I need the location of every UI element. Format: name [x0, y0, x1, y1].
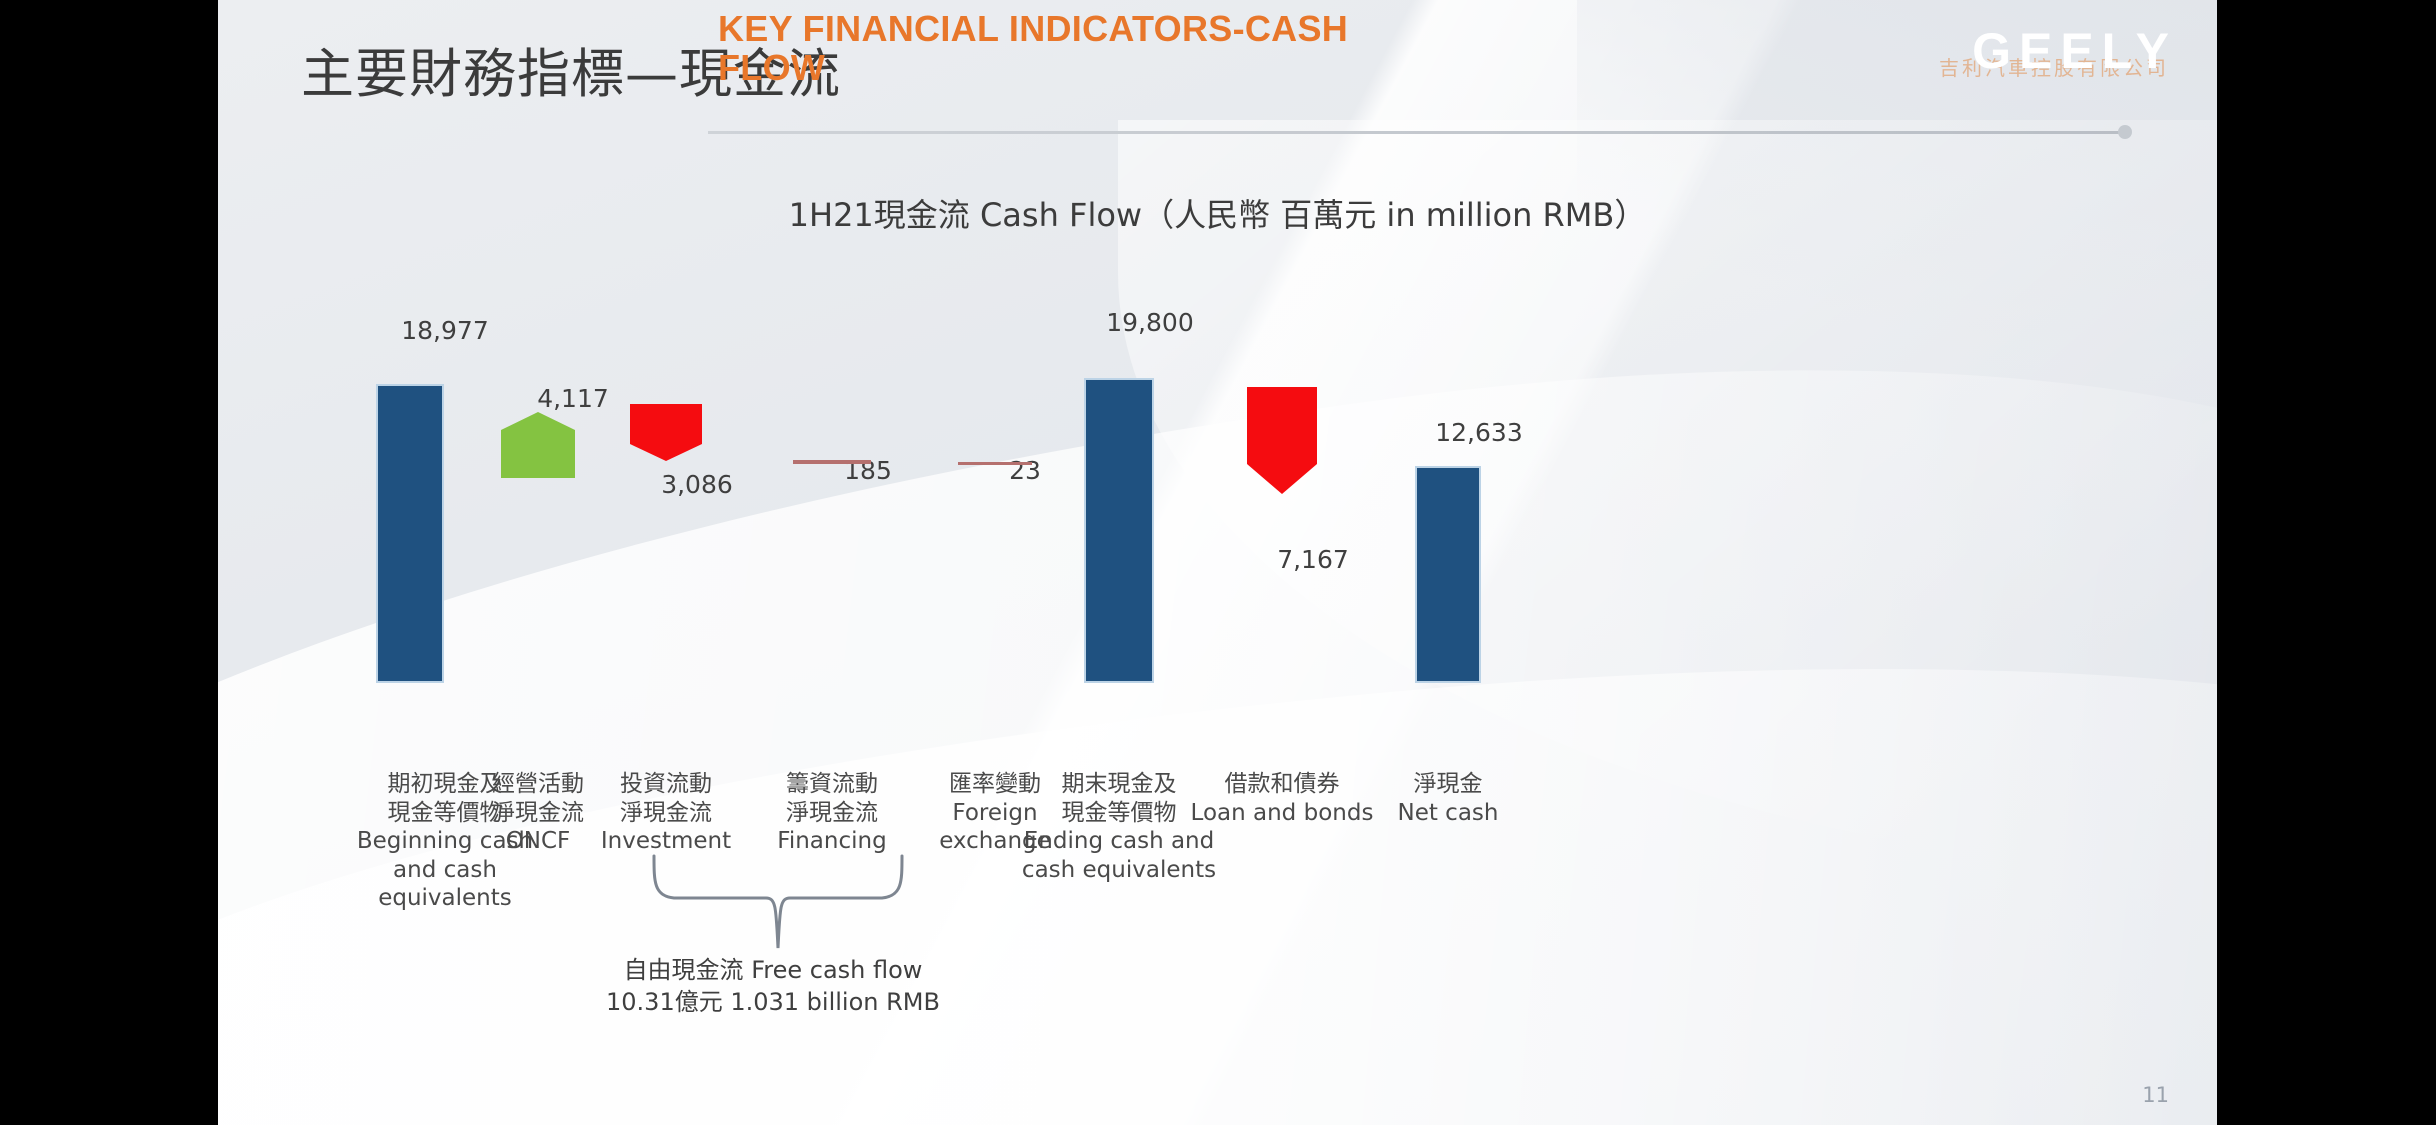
category-7-en1: Net cash: [1328, 799, 1568, 828]
value-label-6: 7,167: [1208, 545, 1418, 574]
bar-4-foreign-exchange: [958, 462, 1032, 465]
category-5-en1: Ending cash and: [999, 827, 1239, 856]
bar-6-loan-and-bonds: [1247, 387, 1317, 494]
free-cash-flow-brace: [648, 852, 908, 952]
category-0-en2: and cash: [325, 856, 565, 885]
value-label-0: 18,977: [340, 316, 550, 345]
bar-1-oncf: [501, 412, 575, 478]
value-label-7: 12,633: [1374, 418, 1584, 447]
letterbox-left: [0, 0, 218, 1125]
free-cash-flow-line1: 自由現金流 Free cash flow: [538, 955, 1008, 987]
category-0-en3: equivalents: [325, 884, 565, 913]
free-cash-flow-line2: 10.31億元 1.031 billion RMB: [538, 987, 1008, 1019]
bar-2-investment: [630, 404, 702, 461]
category-7-cn1: 淨現金: [1328, 770, 1568, 799]
bar-5-ending-cash: [1084, 378, 1154, 683]
free-cash-flow-annotation: 自由現金流 Free cash flow 10.31億元 1.031 billi…: [538, 955, 1008, 1019]
waterfall-chart: 18,977 4,117 3,086 185 23 19,800 7,167: [218, 0, 2217, 1125]
bar-3-financing: [793, 460, 871, 464]
screenshot-stage: 主要財務指標—現金流 KEY FINANCIAL INDICATORS-CASH…: [0, 0, 2436, 1125]
letterbox-right: [2217, 0, 2436, 1125]
bar-0-beginning-cash: [376, 384, 444, 683]
value-label-5: 19,800: [1045, 308, 1255, 337]
category-5-en2: cash equivalents: [999, 856, 1239, 885]
presentation-slide: 主要財務指標—現金流 KEY FINANCIAL INDICATORS-CASH…: [218, 0, 2217, 1125]
bar-7-net-cash: [1415, 466, 1481, 683]
page-number: 11: [2142, 1083, 2169, 1107]
category-label-7: 淨現金 Net cash: [1328, 770, 1568, 827]
